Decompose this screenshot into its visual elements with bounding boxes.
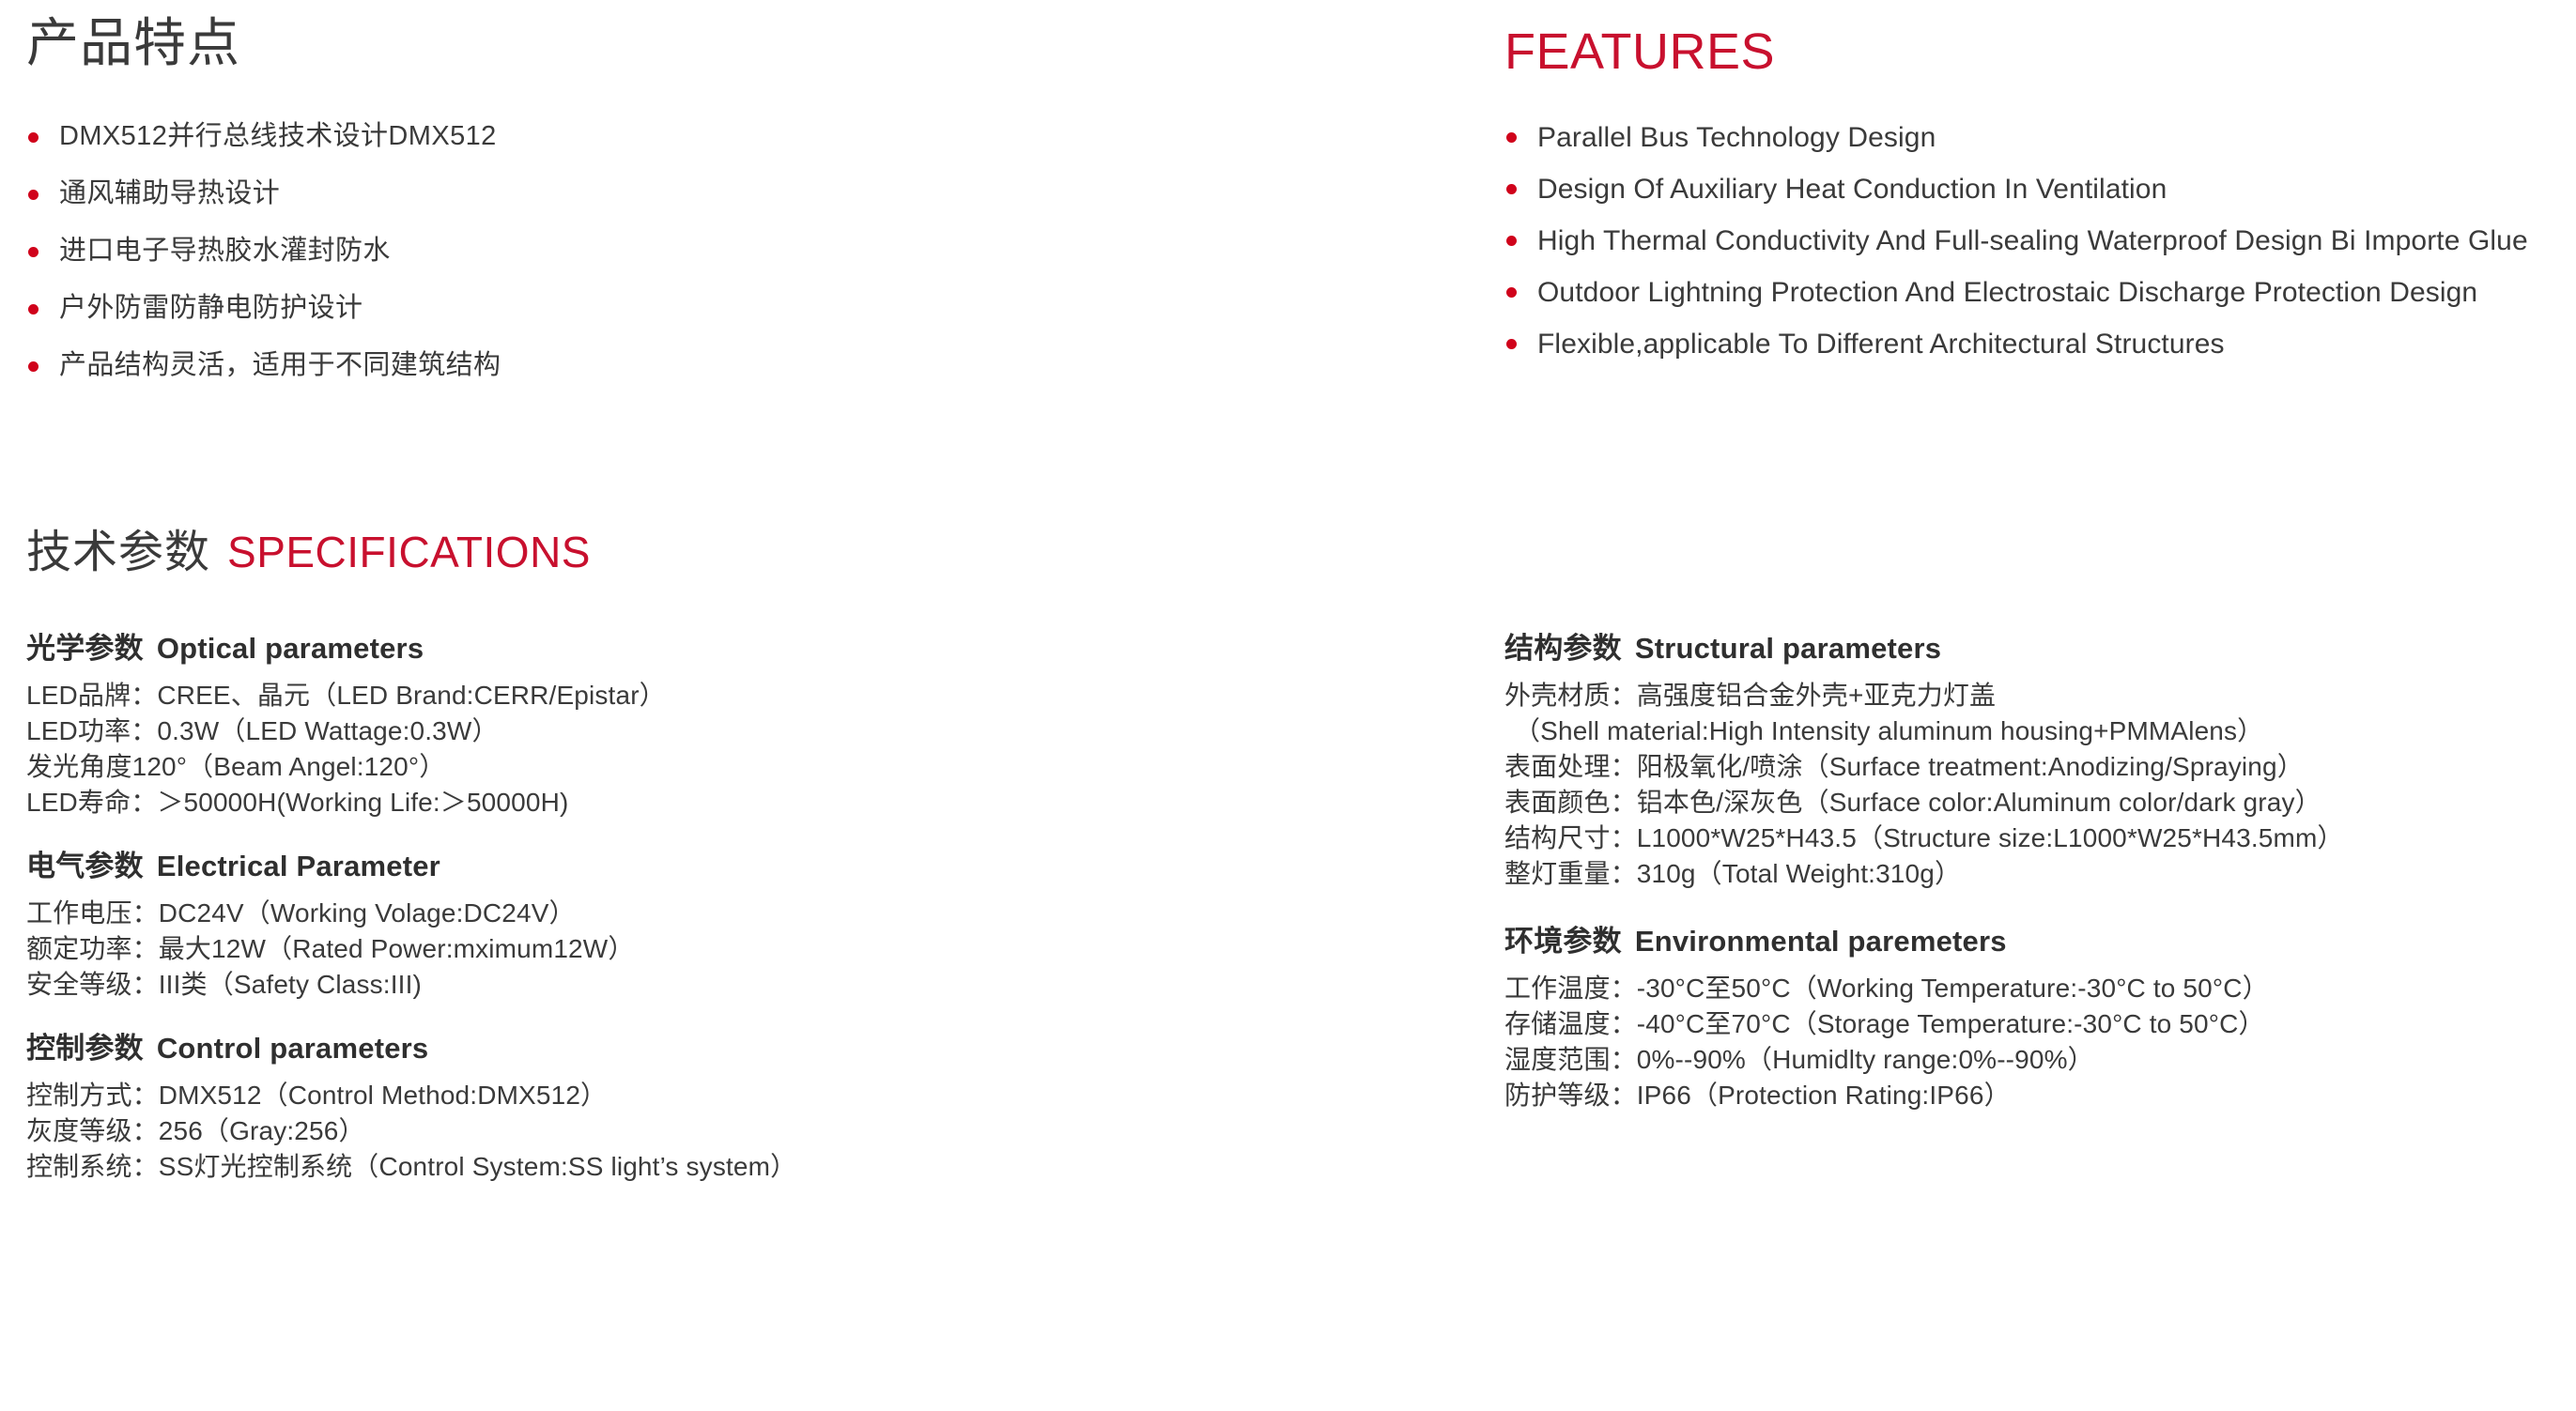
bullet-dot-icon — [1506, 287, 1517, 298]
feature-cn-item: DMX512并行总线技术设计DMX512 — [26, 120, 1341, 153]
spec-line: 控制系统：SS灯光控制系统（Control System:SS light’s … — [26, 1149, 1435, 1185]
spec-line: 防护等级：IP66（Protection Rating:IP66） — [1504, 1078, 2575, 1113]
product-spec-sheet: 产品特点 DMX512并行总线技术设计DMX512通风辅助导热设计进口电子导热胶… — [0, 0, 2576, 1411]
feature-cn-item: 通风辅助导热设计 — [26, 177, 1341, 210]
spec-group-heading-en: Environmental paremeters — [1635, 925, 2007, 958]
feature-en-label: Outdoor Lightning Protection And Electro… — [1537, 277, 2477, 308]
feature-cn-label: 户外防雷防静电防护设计 — [59, 293, 362, 323]
spec-line: 发光角度120°（Beam Angel:120°） — [26, 749, 1435, 785]
bullet-dot-icon — [1506, 184, 1517, 194]
spec-group-heading: 控制参数Control parameters — [26, 1031, 1435, 1066]
feature-en-item: High Thermal Conductivity And Full-seali… — [1504, 223, 2566, 258]
feature-en-label: High Thermal Conductivity And Full-seali… — [1537, 225, 2528, 256]
spec-line: 额定功率：最大12W（Rated Power:mximum12W） — [26, 931, 1435, 967]
spec-line: LED功率：0.3W（LED Wattage:0.3W） — [26, 713, 1435, 749]
spec-group: 结构参数Structural parameters外壳材质：高强度铝合金外壳+亚… — [1504, 631, 2575, 892]
specifications-column-left: 光学参数Optical parametersLED品牌：CREE、晶元（LED … — [26, 631, 1435, 1213]
spec-group: 控制参数Control parameters控制方式：DMX512（Contro… — [26, 1031, 1435, 1185]
specifications-title: 技术参数 SPECIFICATIONS — [26, 530, 591, 575]
specifications-title-en: SPECIFICATIONS — [227, 530, 591, 574]
product-features-list-en: Parallel Bus Technology DesignDesign Of … — [1504, 120, 2566, 378]
feature-cn-label: 产品结构灵活，适用于不同建筑结构 — [59, 350, 501, 380]
spec-group: 环境参数Environmental paremeters工作温度：-30°C至5… — [1504, 924, 2575, 1113]
spec-line: LED寿命：＞50000H(Working Life:＞50000H) — [26, 785, 1435, 821]
spec-group-heading: 环境参数Environmental paremeters — [1504, 924, 2575, 959]
spec-group-heading-en: Control parameters — [157, 1032, 429, 1065]
feature-cn-label: 通风辅助导热设计 — [59, 178, 280, 208]
spec-line: 湿度范围：0%--90%（Humidlty range:0%--90%） — [1504, 1042, 2575, 1078]
spec-group-heading-en: Optical parameters — [157, 632, 424, 665]
product-features-list-cn: DMX512并行总线技术设计DMX512通风辅助导热设计进口电子导热胶水灌封防水… — [26, 120, 1341, 406]
spec-group-heading-cn: 光学参数 — [26, 632, 144, 665]
spec-group-heading-en: Structural parameters — [1635, 632, 1941, 665]
spec-group: 电气参数Electrical Parameter工作电压：DC24V（Worki… — [26, 849, 1435, 1003]
bullet-dot-icon — [28, 304, 39, 314]
spec-group-heading: 光学参数Optical parameters — [26, 631, 1435, 667]
spec-line: （Shell material:High Intensity aluminum … — [1504, 713, 2575, 749]
spec-line: 存储温度：-40°C至70°C（Storage Temperature:-30°… — [1504, 1006, 2575, 1042]
spec-group-heading-cn: 环境参数 — [1504, 925, 1622, 958]
spec-group-heading-cn: 结构参数 — [1504, 632, 1622, 665]
bullet-dot-icon — [28, 361, 39, 372]
spec-line: 整灯重量：310g（Total Weight:310g） — [1504, 856, 2575, 892]
bullet-dot-icon — [1506, 236, 1517, 246]
product-features-title-cn: 产品特点 — [26, 17, 240, 69]
feature-cn-label: DMX512并行总线技术设计DMX512 — [59, 121, 497, 151]
feature-en-label: Design Of Auxiliary Heat Conduction In V… — [1537, 174, 2167, 205]
spec-line: 工作电压：DC24V（Working Volage:DC24V） — [26, 896, 1435, 931]
bullet-dot-icon — [1506, 339, 1517, 349]
spec-line: 工作温度：-30°C至50°C（Working Temperature:-30°… — [1504, 971, 2575, 1006]
spec-line: 外壳材质：高强度铝合金外壳+亚克力灯盖 — [1504, 678, 2575, 713]
features-title-en: FEATURES — [1504, 26, 1775, 77]
specifications-title-cn: 技术参数 — [26, 530, 210, 575]
spec-line: LED品牌：CREE、晶元（LED Brand:CERR/Epistar） — [26, 678, 1435, 713]
feature-en-item: Outdoor Lightning Protection And Electro… — [1504, 275, 2566, 310]
feature-en-label: Parallel Bus Technology Design — [1537, 122, 1936, 153]
feature-cn-item: 产品结构灵活，适用于不同建筑结构 — [26, 349, 1341, 382]
spec-line: 表面处理：阳极氧化/喷涂（Surface treatment:Anodizing… — [1504, 749, 2575, 785]
bullet-dot-icon — [1506, 132, 1517, 143]
bullet-dot-icon — [28, 132, 39, 143]
spec-line: 灰度等级：256（Gray:256） — [26, 1113, 1435, 1149]
spec-line: 控制方式：DMX512（Control Method:DMX512） — [26, 1078, 1435, 1113]
specifications-column-right: 结构参数Structural parameters外壳材质：高强度铝合金外壳+亚… — [1504, 631, 2575, 1145]
feature-cn-item: 进口电子导热胶水灌封防水 — [26, 235, 1341, 268]
spec-line: 表面颜色：铝本色/深灰色（Surface color:Aluminum colo… — [1504, 785, 2575, 821]
bullet-dot-icon — [28, 190, 39, 200]
spec-line: 安全等级：III类（Safety Class:III) — [26, 967, 1435, 1003]
spec-group-heading-en: Electrical Parameter — [157, 850, 440, 882]
bullet-dot-icon — [28, 247, 39, 257]
spec-group: 光学参数Optical parametersLED品牌：CREE、晶元（LED … — [26, 631, 1435, 821]
spec-group-heading: 结构参数Structural parameters — [1504, 631, 2575, 667]
feature-en-item: Flexible,applicable To Different Archite… — [1504, 327, 2566, 361]
spec-line: 结构尺寸：L1000*W25*H43.5（Structure size:L100… — [1504, 821, 2575, 856]
feature-cn-item: 户外防雷防静电防护设计 — [26, 292, 1341, 325]
feature-en-item: Design Of Auxiliary Heat Conduction In V… — [1504, 172, 2566, 207]
feature-cn-label: 进口电子导热胶水灌封防水 — [59, 236, 391, 266]
spec-group-heading-cn: 电气参数 — [26, 850, 144, 882]
feature-en-item: Parallel Bus Technology Design — [1504, 120, 2566, 155]
spec-group-heading-cn: 控制参数 — [26, 1032, 144, 1065]
feature-en-label: Flexible,applicable To Different Archite… — [1537, 329, 2225, 360]
spec-group-heading: 电气参数Electrical Parameter — [26, 849, 1435, 884]
